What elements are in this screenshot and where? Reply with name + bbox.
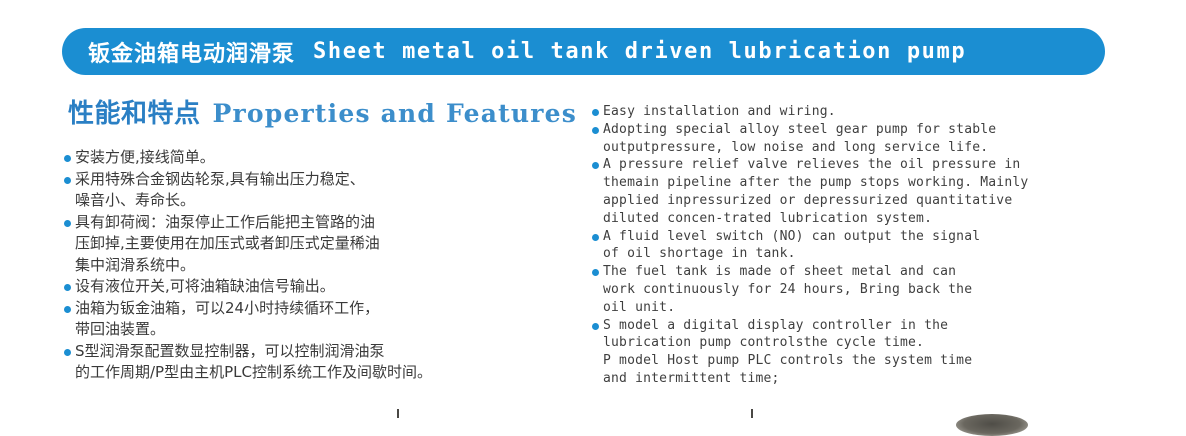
list-item-label: 设有液位开关,可将油箱缺油信号输出。	[75, 276, 335, 298]
list-item: Easy installation and wiring.	[592, 103, 1092, 121]
banner-title-english: Sheet metal oil tank driven lubrication …	[313, 39, 966, 64]
bullet-dot-icon	[592, 162, 599, 169]
list-item: Adopting special alloy steel gear pump f…	[592, 121, 1092, 157]
product-photo-shadow	[956, 414, 1028, 436]
list-item-label: S型润滑泵配置数显控制器，可以控制润滑油泵 的工作周期/P型由主机PLC控制系统…	[75, 341, 432, 384]
list-item: A pressure relief valve relieves the oil…	[592, 156, 1092, 227]
list-item: A fluid level switch (NO) can output the…	[592, 228, 1092, 264]
bullet-dot-icon	[64, 220, 71, 227]
bullet-dot-icon	[64, 177, 71, 184]
list-item: 油箱为钣金油箱，可以24小时持续循环工作， 带回油装置。	[64, 298, 584, 341]
list-item-label: 采用特殊合金钢齿轮泵,具有输出压力稳定、 噪音小、寿命长。	[75, 169, 365, 212]
list-item-label: 油箱为钣金油箱，可以24小时持续循环工作， 带回油装置。	[75, 298, 379, 341]
bullet-dot-icon	[592, 127, 599, 134]
bullet-dot-icon	[592, 269, 599, 276]
product-photo-tick-mark	[397, 409, 399, 418]
list-item: The fuel tank is made of sheet metal and…	[592, 263, 1092, 316]
bullet-dot-icon	[592, 109, 599, 116]
list-item-label: The fuel tank is made of sheet metal and…	[603, 263, 972, 316]
list-item: S model a digital display controller in …	[592, 317, 1092, 388]
bullet-dot-icon	[64, 155, 71, 162]
list-item-label: Adopting special alloy steel gear pump f…	[603, 121, 996, 157]
features-list-english: Easy installation and wiring. Adopting s…	[592, 103, 1092, 388]
list-item: 具有卸荷阀：油泵停止工作后能把主管路的油 压卸掉,主要使用在加压式或者卸压式定量…	[64, 212, 584, 277]
list-item-label: S model a digital display controller in …	[603, 317, 972, 388]
list-item-label: Easy installation and wiring.	[603, 103, 836, 121]
bullet-dot-icon	[592, 234, 599, 241]
list-item-label: A pressure relief valve relieves the oil…	[603, 156, 1028, 227]
section-heading: 性能和特点 Properties and Features	[68, 93, 577, 130]
bullet-dot-icon	[592, 323, 599, 330]
banner-title-chinese: 钣金油箱电动润滑泵	[88, 36, 295, 68]
list-item-label: A fluid level switch (NO) can output the…	[603, 228, 980, 264]
bullet-dot-icon	[64, 306, 71, 313]
list-item-label: 具有卸荷阀：油泵停止工作后能把主管路的油 压卸掉,主要使用在加压式或者卸压式定量…	[75, 212, 380, 277]
product-photo-tick-mark	[751, 409, 753, 418]
section-heading-english: Properties and Features	[213, 99, 577, 128]
list-item: 安装方便,接线简单。	[64, 147, 584, 169]
list-item: 采用特殊合金钢齿轮泵,具有输出压力稳定、 噪音小、寿命长。	[64, 169, 584, 212]
list-item: 设有液位开关,可将油箱缺油信号输出。	[64, 276, 584, 298]
bullet-dot-icon	[64, 349, 71, 356]
bullet-dot-icon	[64, 284, 71, 291]
list-item-label: 安装方便,接线简单。	[75, 147, 215, 169]
section-heading-chinese: 性能和特点	[68, 93, 201, 130]
product-title-banner: 钣金油箱电动润滑泵 Sheet metal oil tank driven lu…	[62, 28, 1105, 75]
list-item: S型润滑泵配置数显控制器，可以控制润滑油泵 的工作周期/P型由主机PLC控制系统…	[64, 341, 584, 384]
features-list-chinese: 安装方便,接线简单。 采用特殊合金钢齿轮泵,具有输出压力稳定、 噪音小、寿命长。…	[64, 147, 584, 384]
